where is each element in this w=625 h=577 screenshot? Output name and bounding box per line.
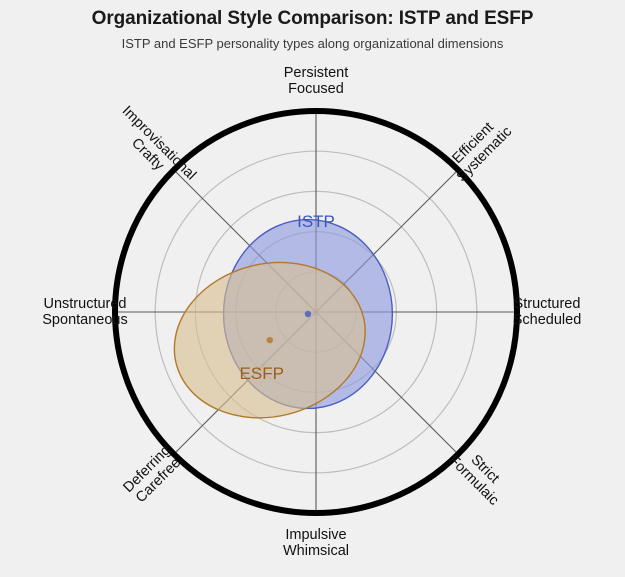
axis-label-unstructured-spontaneous: Unstructured Spontaneous [42,296,127,328]
axis-label-structured-scheduled: Structured Scheduled [513,296,582,328]
series-label-esfp: ESFP [240,364,284,384]
axis-label-impulsive-whimsical: Impulsive Whimsical [283,527,349,559]
axis-label-line2: Scheduled [513,312,582,328]
radar-chart: Organizational Style Comparison: ISTP an… [0,0,625,577]
axis-label-line2: Spontaneous [42,312,127,328]
axis-label-line1: Structured [513,296,582,312]
axis-label-line1: Impulsive [283,527,349,543]
axis-label-line1: Persistent [284,65,348,81]
series-ellipses [158,220,393,438]
axis-label-persistent-focused: Persistent Focused [284,65,348,97]
axis-label-line1: Unstructured [42,296,127,312]
series-center-dot-esfp [267,337,273,343]
axis-label-line2: Focused [284,81,348,97]
axis-label-line2: Whimsical [283,543,349,559]
series-center-dot-istp [305,311,311,317]
series-label-istp: ISTP [297,212,335,232]
